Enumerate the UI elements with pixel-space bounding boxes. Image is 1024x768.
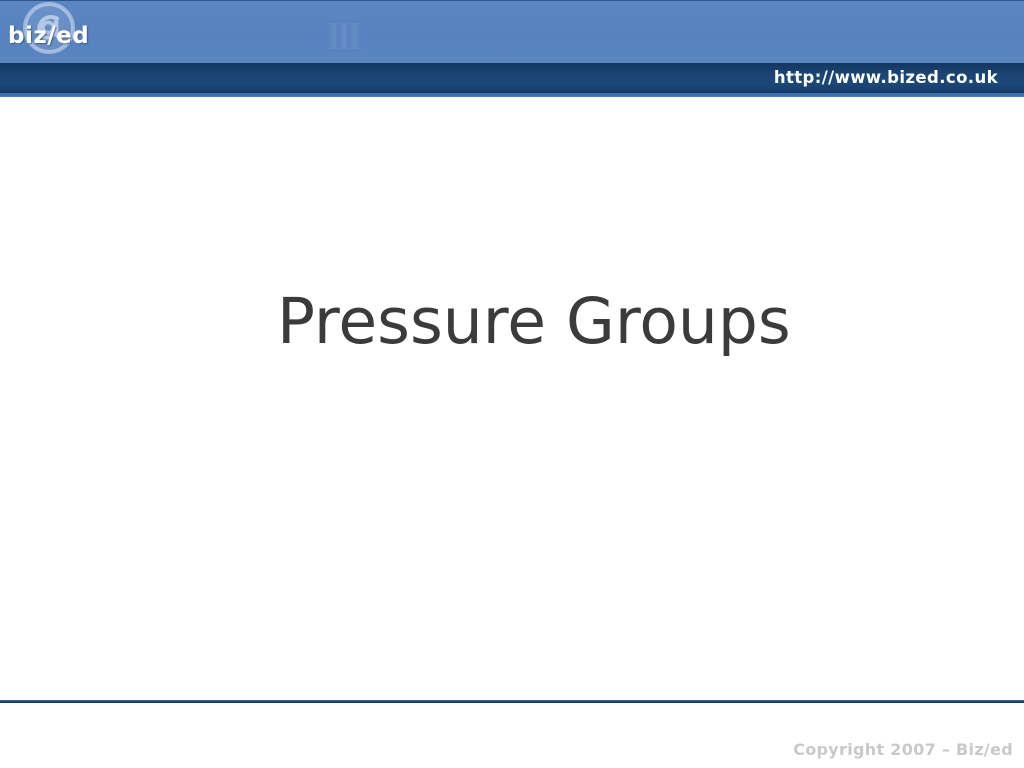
bized-logo[interactable]: biz/ed	[0, 0, 120, 62]
header-top-band	[0, 0, 1024, 63]
copyright-label: Copyright 2007 – Biz/ed	[793, 740, 1013, 759]
slide-body: Pressure Groups	[0, 97, 1024, 700]
header-watermark-streaks	[328, 23, 362, 49]
slide-title: Pressure Groups	[277, 287, 791, 356]
footer-divider	[0, 700, 1024, 703]
slide-header: biz/ed http://www.bized.co.uk	[0, 0, 1024, 97]
presentation-slide: biz/ed http://www.bized.co.uk Pressure G…	[0, 0, 1024, 768]
site-url-label: http://www.bized.co.uk	[774, 68, 998, 87]
logo-wordmark: biz/ed	[8, 25, 89, 48]
